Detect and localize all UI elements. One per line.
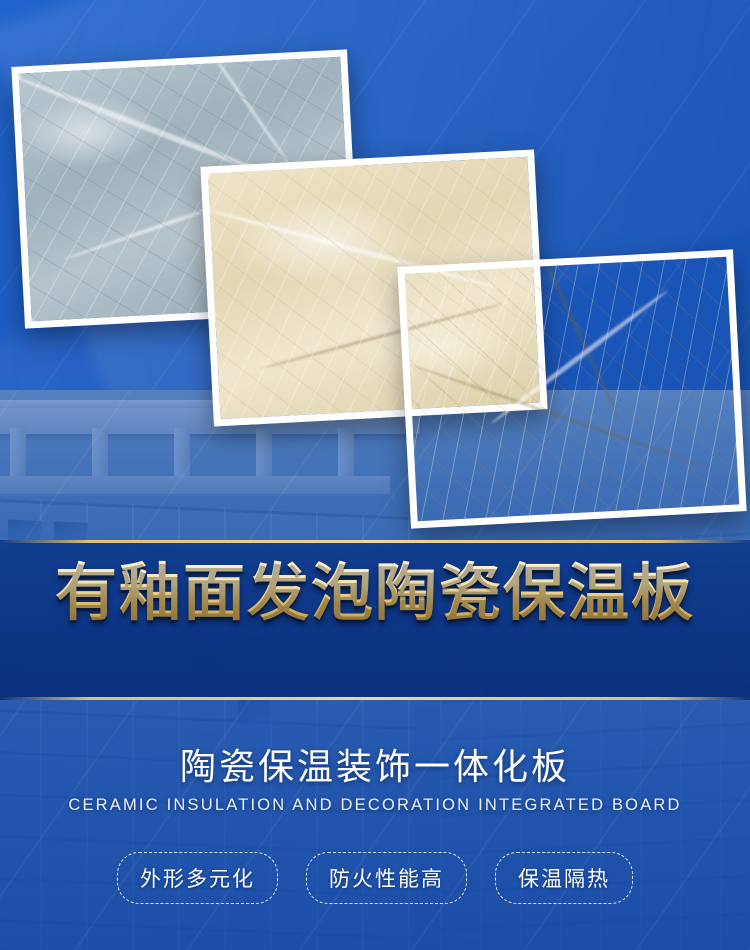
feature-pill-2: 防火性能高 — [306, 852, 467, 904]
marble-vein — [181, 49, 298, 176]
gold-marble-texture — [405, 257, 740, 522]
feature-pill-3: 保温隔热 — [495, 852, 633, 904]
headline-band-bottom-rule — [0, 697, 750, 700]
subtitle-english: CERAMIC INSULATION AND DECORATION INTEGR… — [0, 796, 750, 815]
headline-title: 有釉面发泡陶瓷保温板 — [0, 560, 750, 625]
product-poster: 有釉面发泡陶瓷保温板 陶瓷保温装饰一体化板 CERAMIC INSULATION… — [0, 0, 750, 950]
headline-band-top-rule — [0, 540, 750, 543]
marble-vein — [490, 289, 669, 425]
marble-vein — [510, 249, 624, 425]
feature-pill-list: 外形多元化 防火性能高 保温隔热 — [0, 852, 750, 904]
gold-marble-tile — [397, 249, 746, 528]
feature-pill-1: 外形多元化 — [117, 852, 278, 904]
subtitle-chinese: 陶瓷保温装饰一体化板 — [0, 738, 750, 790]
marble-vein — [411, 364, 715, 471]
